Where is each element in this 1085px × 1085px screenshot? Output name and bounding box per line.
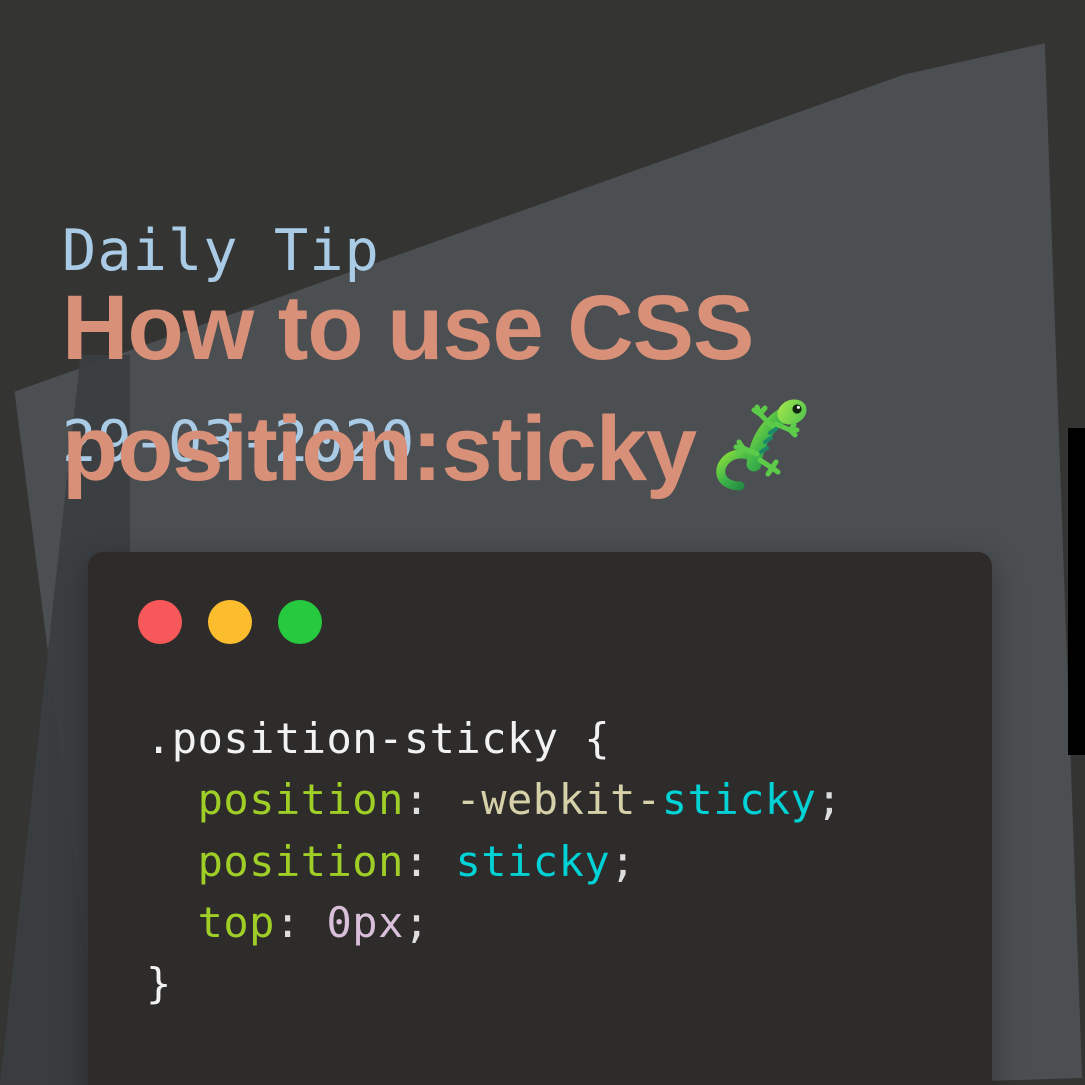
code-window: .position-sticky { position: -webkit-sti… [88, 552, 992, 1085]
code-property-3: top [198, 898, 275, 947]
code-semicolon-3: ; [404, 898, 430, 947]
code-property-1: position [198, 775, 404, 824]
code-property-2: position [198, 837, 404, 886]
background-black-bar [1068, 428, 1085, 755]
title-line-1: How to use CSS [62, 268, 1022, 389]
code-value-2: sticky [455, 837, 610, 886]
lizard-icon [710, 390, 814, 494]
code-colon-1: : [404, 775, 456, 824]
title-line-2-wrapper: position:sticky [62, 389, 1022, 510]
code-colon-2: : [404, 837, 456, 886]
maximize-button[interactable] [278, 600, 322, 644]
page-title: How to use CSS position:sticky [62, 268, 1022, 511]
code-close-brace: } [146, 959, 172, 1008]
code-colon-3: : [275, 898, 327, 947]
code-window-titlebar [88, 552, 992, 644]
code-value-3: 0px [327, 898, 404, 947]
code-semicolon-1: ; [816, 775, 842, 824]
code-open-brace: { [559, 714, 611, 763]
title-line-2: position:sticky [62, 398, 696, 500]
close-button[interactable] [138, 600, 182, 644]
code-value-1: sticky [662, 775, 817, 824]
code-semicolon-2: ; [610, 837, 636, 886]
code-block: .position-sticky { position: -webkit-sti… [146, 708, 992, 1015]
minimize-button[interactable] [208, 600, 252, 644]
code-vendor-prefix: -webkit- [455, 775, 661, 824]
slide-canvas: Daily Tip 29-03-2020 How to use CSS posi… [0, 0, 1085, 1085]
code-selector: .position-sticky [146, 714, 559, 763]
